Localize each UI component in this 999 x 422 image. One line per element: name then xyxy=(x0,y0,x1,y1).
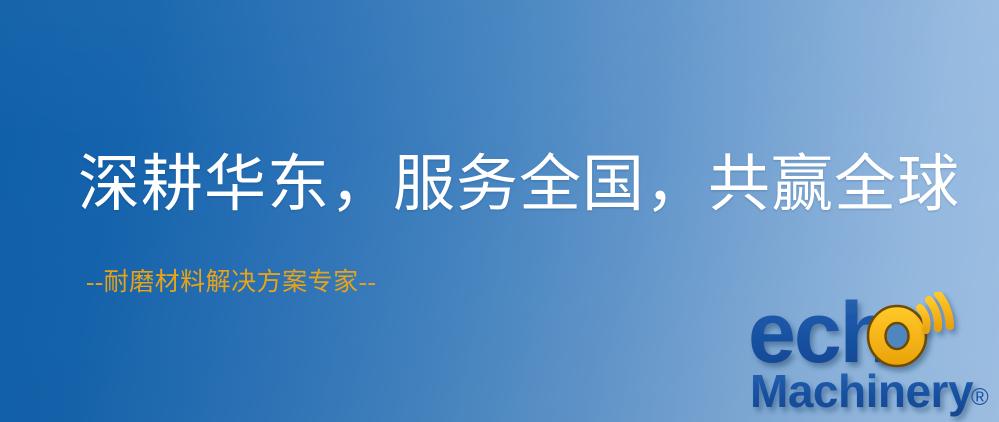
svg-text:®: ® xyxy=(971,384,989,411)
banner-headline: 深耕华东，服务全国，共赢全球 xyxy=(78,152,960,218)
promo-banner: 深耕华东，服务全国，共赢全球 --耐磨材料解决方案专家-- xyxy=(0,0,999,422)
svg-text:Machinery: Machinery xyxy=(750,365,974,417)
echo-waves-icon xyxy=(920,294,950,330)
logo-subtext-machinery: Machinery xyxy=(750,365,974,417)
registered-trademark-icon: ® xyxy=(971,384,989,411)
echo-machinery-logo: ech Machinery ® xyxy=(748,292,999,422)
banner-subtitle: --耐磨材料解决方案专家-- xyxy=(86,268,376,298)
logo-letter-o-gold xyxy=(868,306,926,366)
